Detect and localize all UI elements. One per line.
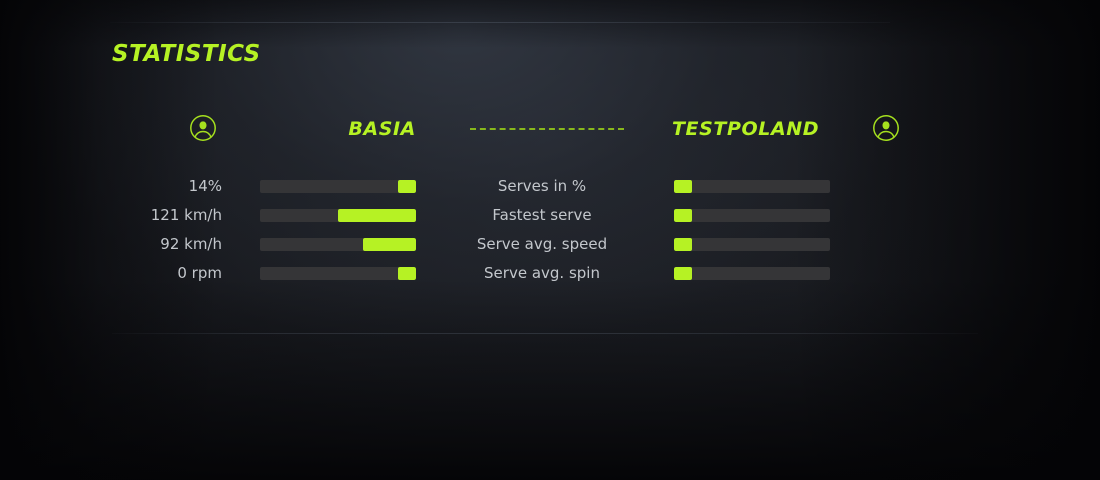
stat-bar-right bbox=[674, 238, 830, 251]
user-avatar-icon bbox=[872, 114, 900, 146]
stat-bar-right bbox=[674, 209, 830, 222]
stat-value-left: 92 km/h bbox=[112, 236, 222, 252]
stat-bar-left bbox=[260, 209, 416, 222]
stat-bar-right-fill bbox=[674, 180, 692, 193]
player-name-left[interactable]: BASIA bbox=[240, 118, 416, 140]
stat-label: Serves in % bbox=[422, 178, 662, 194]
stat-label: Serve avg. spin bbox=[422, 265, 662, 281]
stat-value-left: 0 rpm bbox=[112, 265, 222, 281]
stat-bar-left bbox=[260, 238, 416, 251]
stats-list: 14% Serves in % 121 km/h Fastest serve 9… bbox=[112, 178, 912, 294]
stat-value-left: 14% bbox=[112, 178, 222, 194]
stat-bar-left-fill bbox=[398, 267, 416, 280]
stat-row: 0 rpm Serve avg. spin bbox=[112, 265, 912, 294]
avatar-left[interactable] bbox=[188, 110, 218, 150]
stat-row: 121 km/h Fastest serve bbox=[112, 207, 912, 236]
user-avatar-icon bbox=[189, 114, 217, 146]
bottom-divider-rule bbox=[112, 333, 978, 334]
players-header-row: BASIA TESTPOLAND bbox=[112, 110, 912, 150]
statistics-panel: STATISTICS BASIA TESTPOLAND bbox=[0, 0, 1100, 480]
stat-bar-left bbox=[260, 267, 416, 280]
stat-row: 14% Serves in % bbox=[112, 178, 912, 207]
stat-bar-left bbox=[260, 180, 416, 193]
stat-bar-left-fill bbox=[398, 180, 416, 193]
stat-bar-right-fill bbox=[674, 267, 692, 280]
avatar-right[interactable] bbox=[871, 110, 901, 150]
page-title: STATISTICS bbox=[112, 41, 261, 67]
stat-label: Fastest serve bbox=[422, 207, 662, 223]
stat-bar-right bbox=[674, 180, 830, 193]
stat-value-left: 121 km/h bbox=[112, 207, 222, 223]
stat-bar-right bbox=[674, 267, 830, 280]
stat-row: 92 km/h Serve avg. speed bbox=[112, 236, 912, 265]
dashed-divider-icon bbox=[470, 128, 624, 130]
stat-bar-right-fill bbox=[674, 209, 692, 222]
top-divider-rule bbox=[110, 22, 890, 23]
stat-bar-left-fill bbox=[363, 238, 416, 251]
stat-label: Serve avg. speed bbox=[422, 236, 662, 252]
stat-bar-left-fill bbox=[338, 209, 416, 222]
stat-bar-right-fill bbox=[674, 238, 692, 251]
player-name-right[interactable]: TESTPOLAND bbox=[672, 118, 852, 140]
